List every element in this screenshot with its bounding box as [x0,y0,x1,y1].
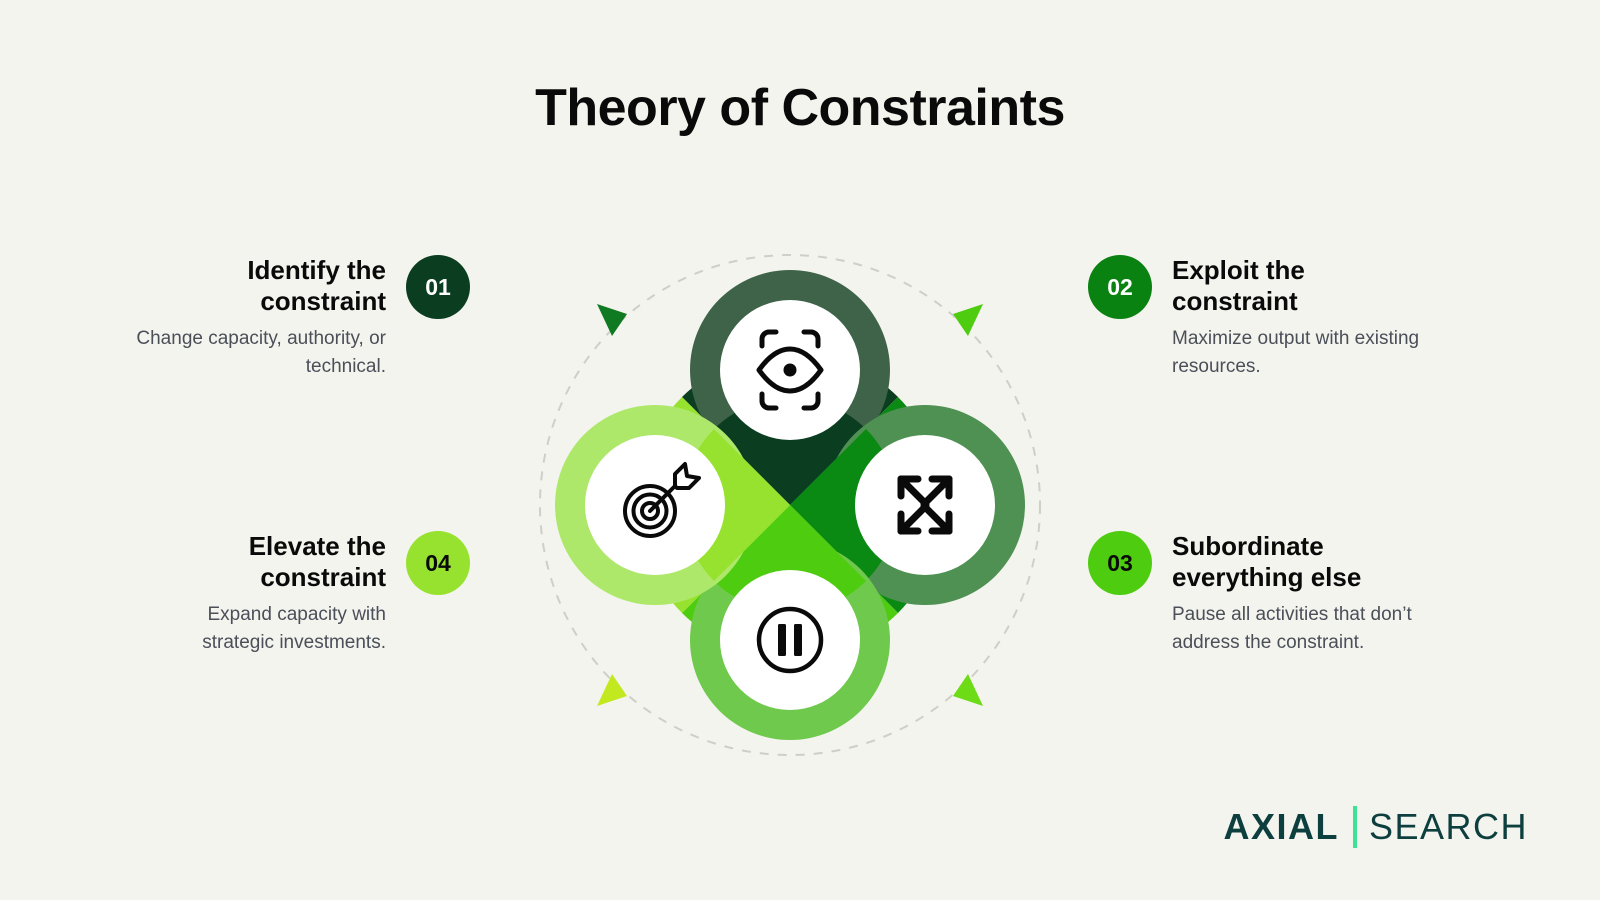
step-text-01: Identify the constraint Change capacity,… [136,255,386,380]
step-badge-03: 03 [1088,531,1152,595]
axial-search-logo: AXIAL SEARCH [1223,806,1528,848]
step-item-03[interactable]: 03 Subordinate everything else Pause all… [1088,531,1422,656]
logo-primary-text: AXIAL [1223,806,1339,848]
step-text-04: Elevate the constraint Expand capacity w… [136,531,386,656]
step-title-04: Elevate the constraint [136,531,386,592]
step-title-03: Subordinate everything else [1172,531,1422,592]
logo-divider [1353,806,1357,848]
petal-subordinate-inner [720,570,860,710]
step-text-03: Subordinate everything else Pause all ac… [1172,531,1422,656]
theory-of-constraints-diagram [500,215,1080,795]
step-description-01: Change capacity, authority, or technical… [136,325,386,380]
step-item-04[interactable]: Elevate the constraint Expand capacity w… [136,531,470,656]
arrow-top-right [953,304,983,336]
step-item-01[interactable]: Identify the constraint Change capacity,… [136,255,470,380]
step-description-02: Maximize output with existing resources. [1172,325,1422,380]
step-badge-02: 02 [1088,255,1152,319]
step-description-04: Expand capacity with strategic investmen… [136,601,386,656]
page-title: Theory of Constraints [0,78,1600,138]
arrow-bottom-right [953,674,983,706]
arrow-top-left [597,304,627,336]
step-text-02: Exploit the constraint Maximize output w… [1172,255,1422,380]
logo-secondary-text: SEARCH [1369,806,1528,848]
step-badge-01: 01 [406,255,470,319]
arrow-bottom-left [597,674,627,706]
step-description-03: Pause all activities that don’t address … [1172,601,1422,656]
step-title-02: Exploit the constraint [1172,255,1422,316]
step-title-01: Identify the constraint [136,255,386,316]
step-item-02[interactable]: 02 Exploit the constraint Maximize outpu… [1088,255,1422,380]
step-badge-04: 04 [406,531,470,595]
